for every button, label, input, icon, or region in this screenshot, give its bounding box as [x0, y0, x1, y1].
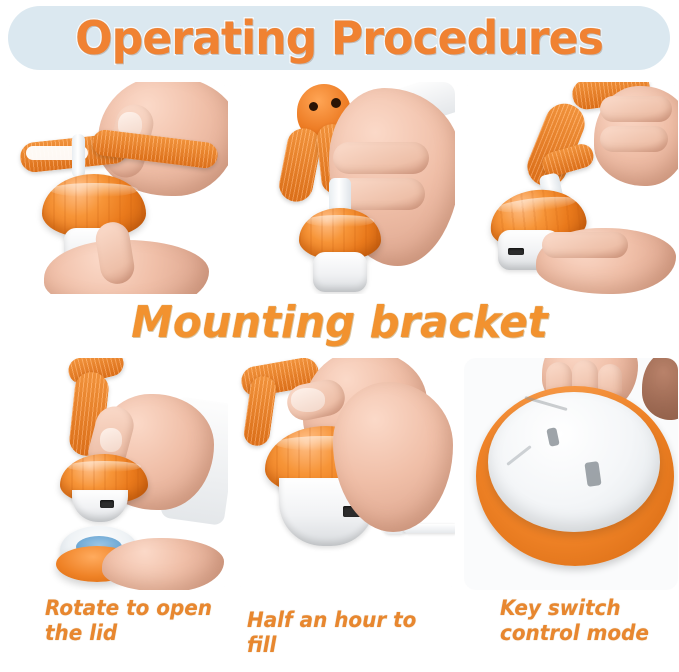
finger: [333, 142, 429, 174]
fingernail: [100, 428, 122, 452]
caption-rotate-lid: Rotate to open the lid: [45, 596, 245, 646]
usb-port: [508, 248, 524, 255]
finger: [600, 96, 672, 122]
dispenser-neck: [72, 134, 85, 178]
header-banner: Operating Procedures: [8, 6, 670, 70]
photo-surface: [6, 358, 228, 590]
fingernail: [291, 388, 325, 412]
step-photo-4: [6, 358, 228, 590]
step-photo-2: [237, 82, 455, 294]
steps-row-top: [0, 82, 679, 294]
hand-background: [642, 358, 678, 420]
photo-surface: [464, 82, 678, 294]
white-base: [313, 252, 367, 292]
hand-lower: [102, 538, 224, 590]
caption-fill-time: Half an hour to fill: [247, 608, 451, 658]
captions-row: Rotate to open the lid Half an hour to f…: [0, 592, 679, 672]
step-photo-1: [6, 82, 228, 294]
section-heading: Mounting bracket: [17, 298, 662, 348]
finger: [600, 126, 668, 152]
step-photo-6: [464, 358, 678, 590]
caption-key-switch: Key switch control mode: [500, 596, 666, 646]
step-photo-5: [237, 358, 455, 590]
photo-surface: [6, 82, 228, 294]
key-switch-panel: [488, 392, 660, 532]
photo-surface: [464, 358, 678, 590]
page-title: Operating Procedures: [21, 6, 657, 70]
plush-eye-right: [331, 98, 341, 108]
steps-row-bottom: [0, 358, 679, 590]
plush-eye-left: [309, 102, 318, 111]
usb-port: [100, 500, 114, 508]
finger: [542, 232, 628, 258]
step-photo-3: [464, 82, 678, 294]
photo-surface: [237, 82, 455, 294]
photo-surface: [237, 358, 455, 590]
